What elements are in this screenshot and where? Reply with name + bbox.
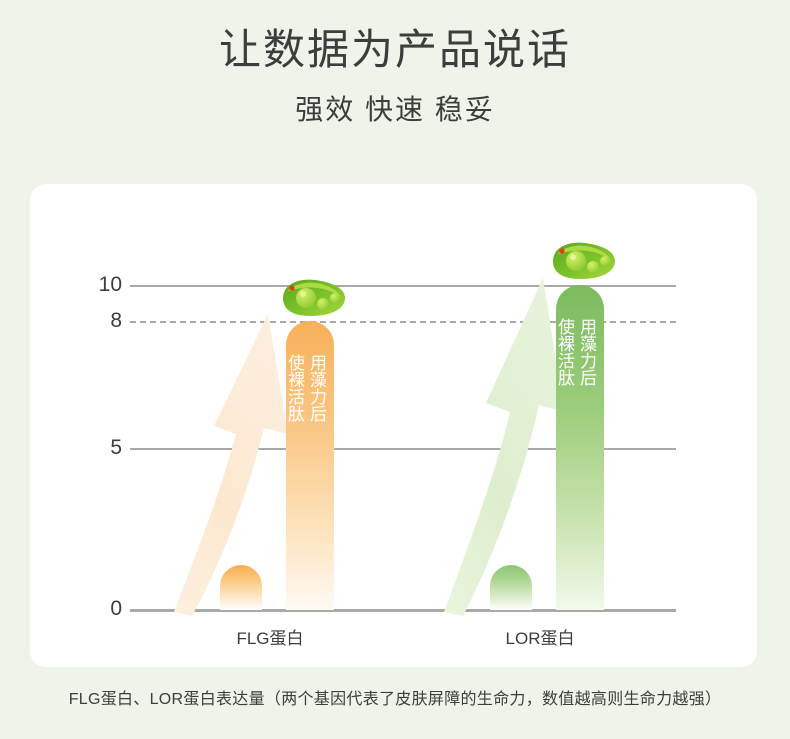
euglena-cell-icon-flg	[273, 274, 349, 320]
y-tick-0: 0	[86, 598, 122, 619]
y-tick-5: 5	[86, 437, 122, 458]
x-label-lor: LOR蛋白	[440, 624, 640, 649]
gridline-10	[130, 285, 676, 287]
bar-lor-after-label-text: 使用裸藻活力肽后	[556, 319, 604, 387]
y-tick-10: 10	[86, 274, 122, 295]
chart-card: 10 8 5 0 使用裸藻活力肽后	[30, 184, 757, 667]
y-tick-8: 8	[86, 310, 122, 331]
bar-lor-before	[490, 565, 532, 610]
bar-flg-before	[220, 565, 262, 610]
page-title: 让数据为产品说话	[0, 26, 790, 74]
bar-lor-after: 使用裸藻活力肽后	[556, 285, 604, 610]
chart-plot-area: 10 8 5 0 使用裸藻活力肽后	[30, 184, 757, 667]
x-label-flg: FLG蛋白	[170, 624, 370, 649]
chart-caption: FLG蛋白、LOR蛋白表达量（两个基因代表了皮肤屏障的生命力，数值越高则生命力越…	[0, 685, 790, 709]
bar-flg-after-label-text: 使用裸藻活力肽后	[286, 355, 334, 423]
euglena-cell-icon-lor	[543, 237, 619, 283]
bar-flg-after-label: 使用裸藻活力肽后	[286, 355, 334, 428]
page-subtitle: 强效 快速 稳妥	[0, 88, 790, 128]
bar-flg-after: 使用裸藻活力肽后	[286, 321, 334, 610]
bar-lor-after-label: 使用裸藻活力肽后	[556, 319, 604, 392]
page-header: 让数据为产品说话 强效 快速 稳妥	[0, 0, 790, 128]
